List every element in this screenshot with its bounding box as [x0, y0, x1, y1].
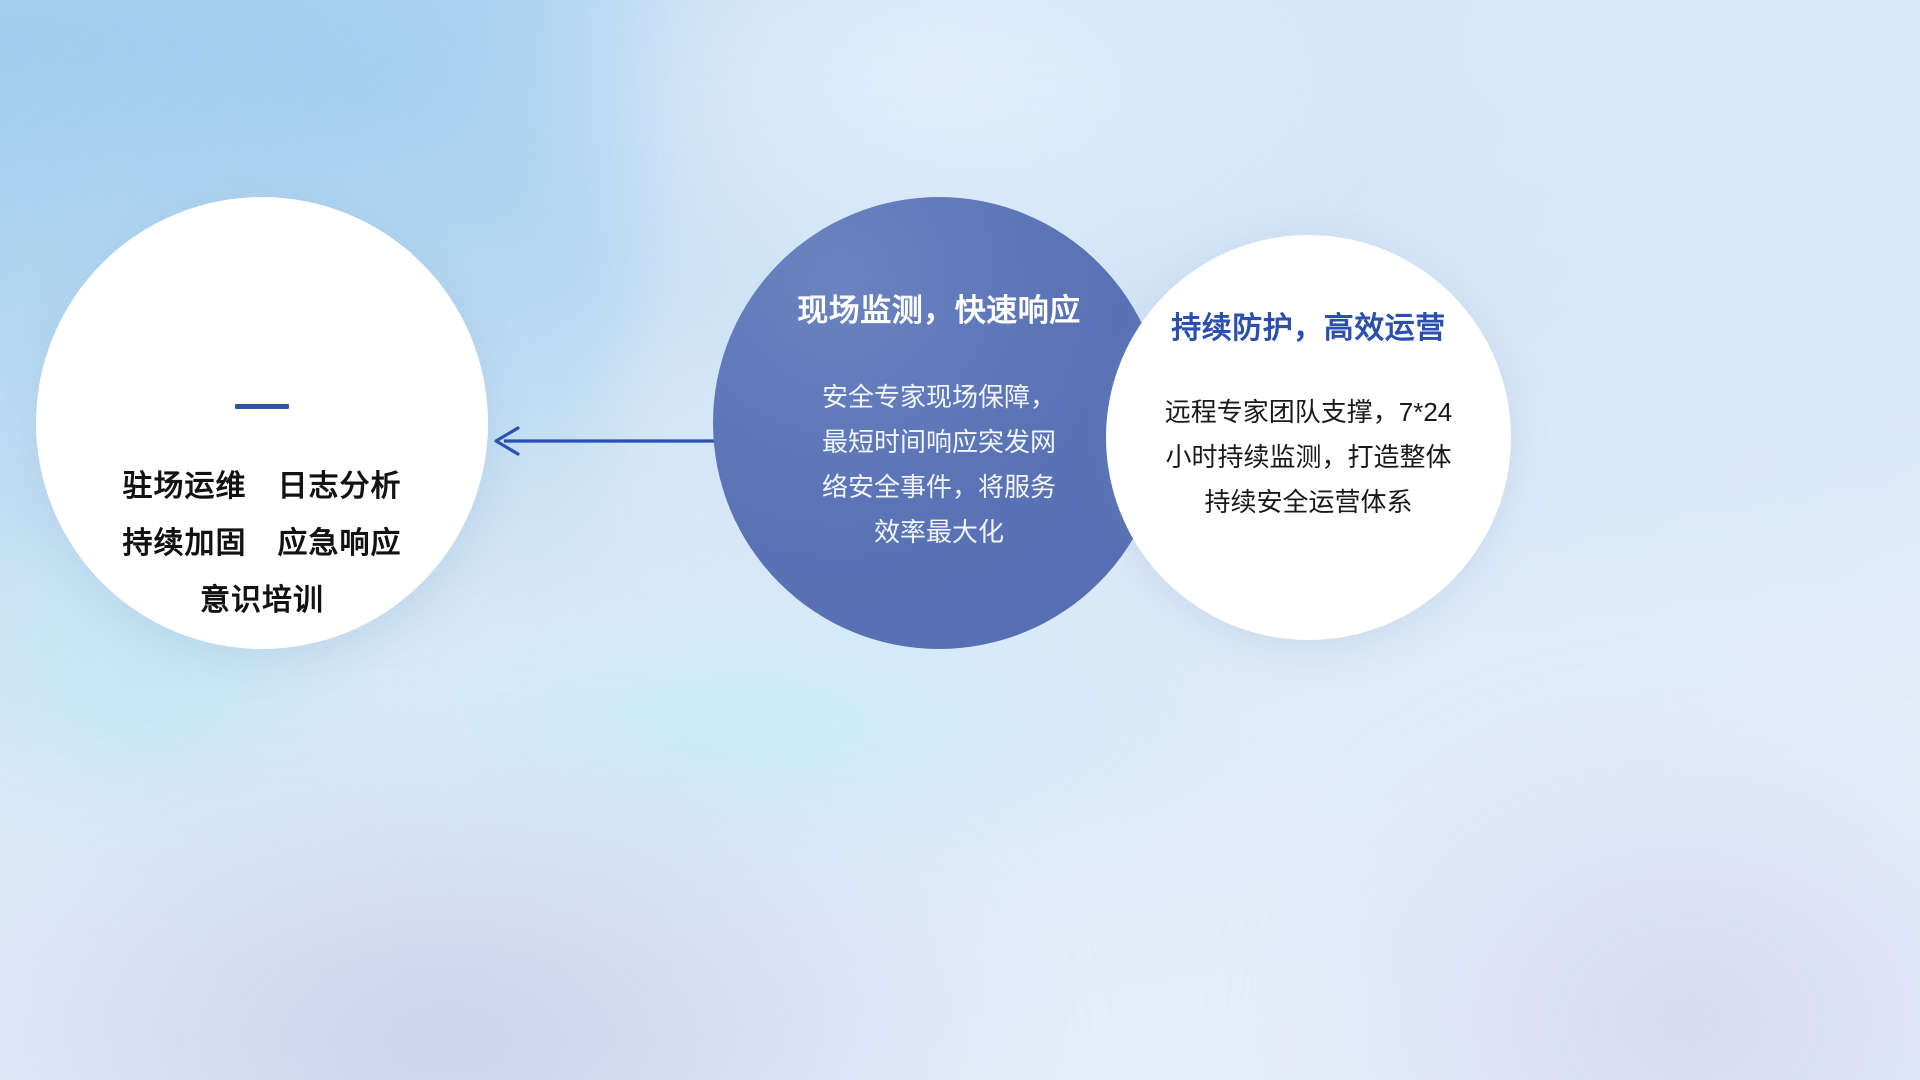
- node-title: 现场监测，快速响应: [797, 285, 1081, 330]
- divider-dash: [235, 404, 289, 409]
- list-item: 持续加固 应急响应: [123, 515, 402, 572]
- body-line: 最短时间响应突发网: [789, 420, 1089, 465]
- slide-canvas: 驻场运维 日志分析 持续加固 应急响应 意识培训 现场监测，快速响应 安全专家现…: [0, 0, 1920, 1080]
- node-continuous-protection: 持续防护，高效运营 远程专家团队支撑，7*24 小时持续监测，打造整体 持续安全…: [1106, 235, 1511, 640]
- node-title: 持续防护，高效运营: [1171, 303, 1446, 347]
- node-capabilities: 驻场运维 日志分析 持续加固 应急响应 意识培训: [36, 197, 488, 649]
- list-item: 意识培训: [123, 572, 402, 629]
- node-onsite-monitoring: 现场监测，快速响应 安全专家现场保障， 最短时间响应突发网 络安全事件，将服务 …: [713, 197, 1165, 649]
- body-line: 安全专家现场保障，: [789, 375, 1089, 420]
- node-body: 安全专家现场保障， 最短时间响应突发网 络安全事件，将服务 效率最大化: [789, 375, 1089, 555]
- body-line: 络安全事件，将服务: [789, 465, 1089, 510]
- body-line: 效率最大化: [789, 510, 1089, 555]
- capabilities-list: 驻场运维 日志分析 持续加固 应急响应 意识培训: [123, 458, 402, 629]
- node-body: 远程专家团队支撑，7*24 小时持续监测，打造整体 持续安全运营体系: [1139, 390, 1479, 525]
- body-line: 远程专家团队支撑，7*24: [1139, 390, 1479, 435]
- body-line: 持续安全运营体系: [1139, 480, 1479, 525]
- body-line: 小时持续监测，打造整体: [1139, 435, 1479, 480]
- connector-arrow-icon: [470, 415, 730, 470]
- list-item: 驻场运维 日志分析: [123, 458, 402, 515]
